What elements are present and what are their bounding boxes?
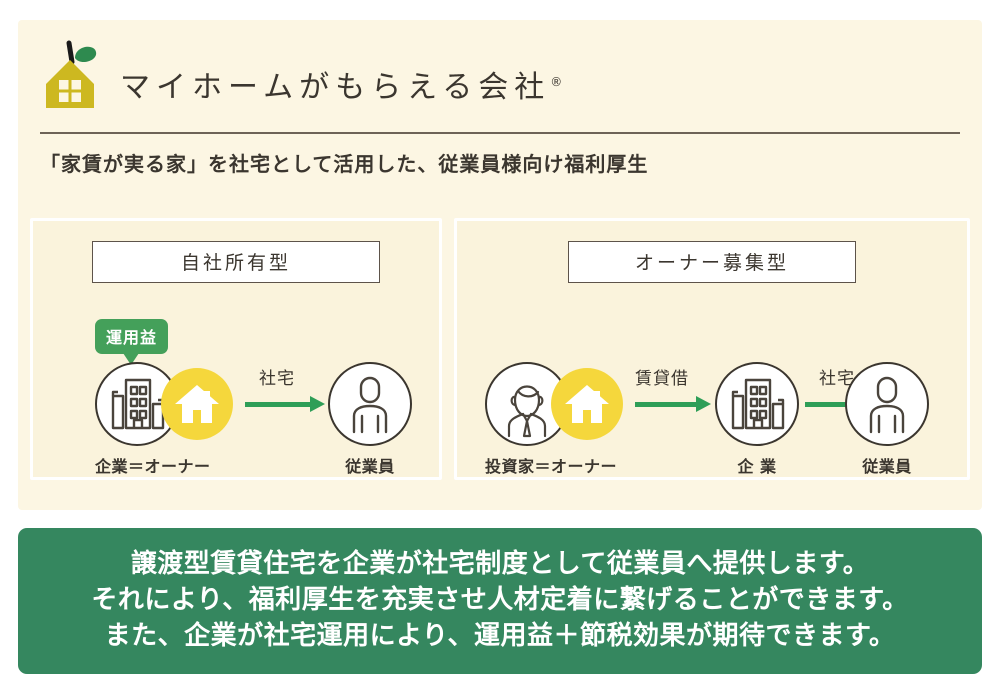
brand-logo-row: マイホームがもらえる会社®	[42, 38, 562, 110]
node-label-investor-owner: 投資家＝オーナー	[485, 453, 617, 477]
house-fruit-logo-icon	[42, 40, 104, 110]
summary-line-2: それにより、福利厚生を充実させ人材定着に繋げることができます。	[91, 583, 908, 619]
arrow-company-to-employee	[245, 393, 325, 415]
node-label-employee-right: 従業員	[845, 453, 929, 477]
summary-line-1: 譲渡型賃貸住宅を企業が社宅制度として従業員へ提供します。	[131, 547, 870, 583]
house-badge-icon-right	[551, 368, 623, 440]
header-divider	[40, 132, 960, 134]
employee-person-icon	[328, 362, 412, 446]
panel-owner-recruit: オーナー募集型	[454, 218, 970, 480]
arrow-label-lease: 賃貸借	[635, 364, 689, 389]
gain-badge: 運用益	[95, 319, 168, 354]
summary-banner: 譲渡型賃貸住宅を企業が社宅制度として従業員へ提供します。 それにより、福利厚生を…	[18, 528, 982, 674]
node-company: 企 業	[715, 362, 799, 477]
node-label-company: 企 業	[715, 453, 799, 477]
panel-title-owner-recruit: オーナー募集型	[568, 241, 856, 283]
main-cream-card: マイホームがもらえる会社® 「家賃が実る家」を社宅として活用した、従業員様向け福…	[18, 20, 982, 510]
house-badge-icon	[161, 368, 233, 440]
node-label-employee-left: 従業員	[328, 453, 412, 477]
page-subtitle: 「家賃が実る家」を社宅として活用した、従業員様向け福利厚生	[40, 148, 648, 177]
flow-owner-recruit: 投資家＝オーナー 賃貸借	[457, 319, 967, 469]
infographic-page: マイホームがもらえる会社® 「家賃が実る家」を社宅として活用した、従業員様向け福…	[0, 0, 1000, 694]
diagram-panels: 自社所有型 運用益	[30, 218, 970, 480]
employee-person-icon	[845, 362, 929, 446]
panel-self-owned: 自社所有型 運用益	[30, 218, 442, 480]
summary-line-3: また、企業が社宅運用により、運用益＋節税効果が期待できます。	[105, 619, 896, 655]
registered-mark: ®	[550, 75, 562, 89]
brand-wordmark-text: マイホームがもらえる会社	[120, 70, 550, 105]
flow-self-owned: 運用益	[33, 319, 439, 469]
arrow-label-shataku-left: 社宅	[259, 364, 295, 389]
arrow-investor-to-company	[635, 393, 711, 415]
node-label-company-owner: 企業＝オーナー	[95, 453, 211, 477]
node-employee-right: 従業員	[845, 362, 929, 477]
building-icon	[715, 362, 799, 446]
node-employee-left: 従業員	[328, 362, 412, 477]
brand-wordmark: マイホームがもらえる会社®	[120, 62, 562, 110]
panel-title-self-owned: 自社所有型	[92, 241, 380, 283]
